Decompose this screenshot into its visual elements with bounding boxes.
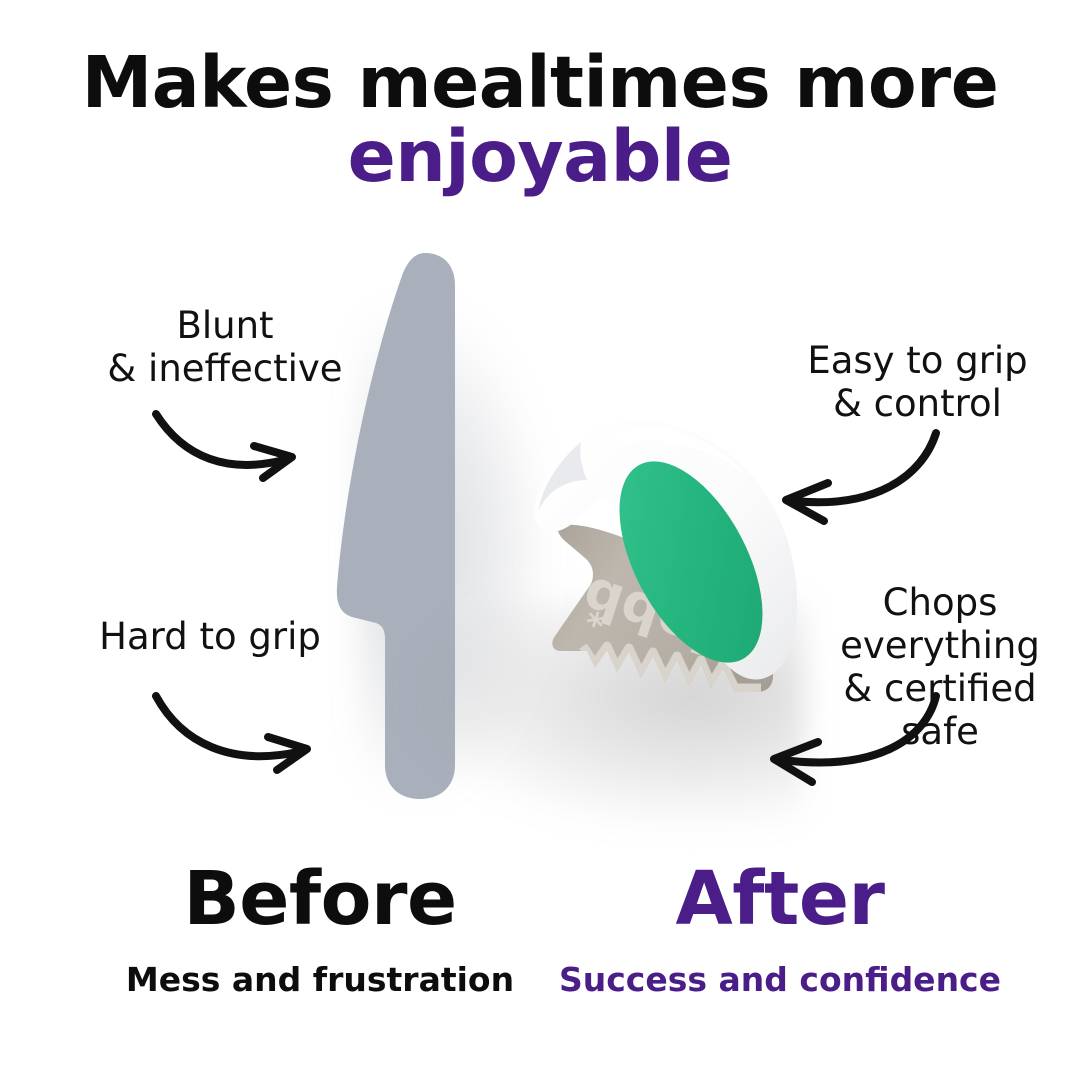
annotation-easy-to-grip: Easy to grip & control: [790, 340, 1045, 426]
after-dobb-chopper-illustration: dobb *: [495, 350, 825, 810]
headline-line-1: Makes mealtimes more: [0, 46, 1080, 120]
annotation-blunt-ineffective: Blunt & ineffective: [75, 305, 375, 391]
page-title: Makes mealtimes more enjoyable: [0, 46, 1080, 194]
after-title: After: [520, 862, 1040, 936]
annotation-chops-everything: Chops everything & certified safe: [825, 582, 1055, 754]
arrow-to-blade-icon: [150, 400, 320, 490]
infographic-canvas: Makes mealtimes more enjoyable Blunt & i…: [0, 0, 1080, 1080]
before-subtitle: Mess and frustration: [60, 963, 580, 996]
before-title: Before: [60, 862, 580, 936]
headline-line-2: enjoyable: [0, 120, 1080, 194]
annotation-hard-to-grip: Hard to grip: [60, 616, 360, 659]
after-subtitle: Success and confidence: [520, 963, 1040, 996]
